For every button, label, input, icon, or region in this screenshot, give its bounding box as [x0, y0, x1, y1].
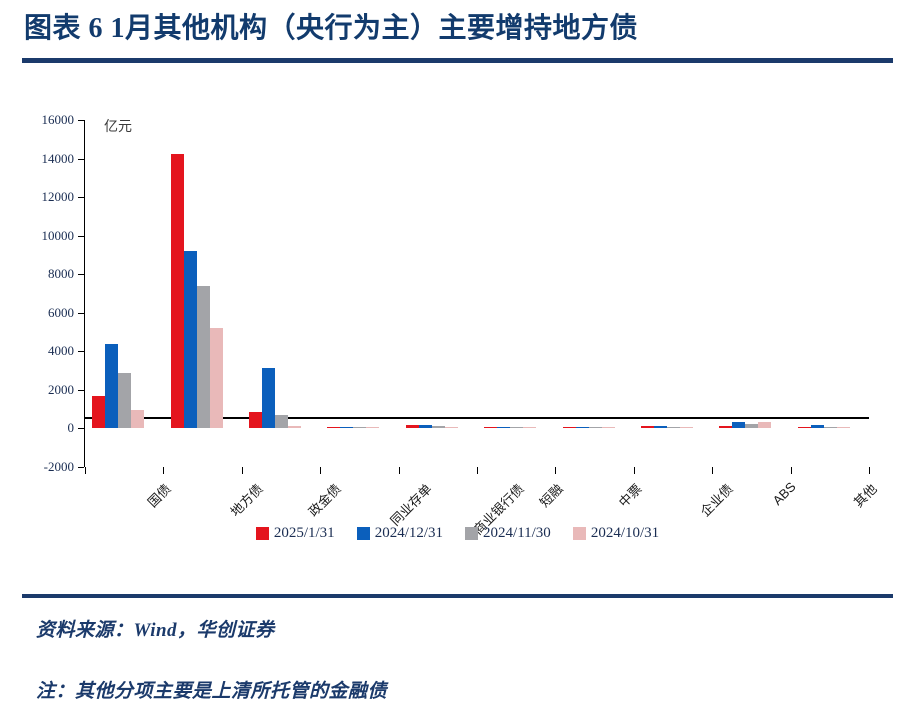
x-tick-mark: [85, 467, 86, 474]
bar: [758, 422, 771, 428]
y-tick-label: 6000: [12, 305, 74, 321]
y-tick-label: 14000: [12, 151, 74, 167]
y-tick-label: 16000: [12, 112, 74, 128]
legend-label: 2024/10/31: [591, 525, 659, 542]
y-tick-mark: [78, 467, 84, 468]
y-tick-label: 2000: [12, 382, 74, 398]
bar: [327, 427, 340, 429]
bar-group: [399, 120, 477, 467]
bar-group: [85, 120, 163, 467]
footer-divider: [22, 594, 893, 598]
y-tick-label: 8000: [12, 266, 74, 282]
bar: [654, 426, 667, 429]
x-tick-mark: [320, 467, 321, 474]
x-axis-label-1: 国债: [143, 479, 175, 511]
bar: [680, 427, 693, 429]
bar: [641, 426, 654, 428]
x-tick-mark: [242, 467, 243, 474]
bar-group: [791, 120, 869, 467]
bar-group: [320, 120, 398, 467]
bar: [837, 427, 850, 429]
x-axis-label-2: 地方债: [225, 479, 266, 520]
x-axis-label-10: 其他: [848, 479, 880, 511]
y-tick-mark: [78, 120, 84, 121]
bar: [92, 396, 105, 428]
y-tick-label: 0: [12, 420, 74, 436]
plot-area: [85, 120, 869, 467]
y-tick-mark: [78, 236, 84, 237]
bar: [484, 427, 497, 429]
legend-item[interactable]: 2025/1/31: [256, 525, 335, 542]
legend-label: 2024/12/31: [375, 525, 443, 542]
x-axis-label-6: 短融: [535, 479, 567, 511]
bar: [406, 425, 419, 428]
legend-item[interactable]: 2024/11/30: [465, 525, 551, 542]
source-note: 资料来源：Wind，华创证券: [36, 615, 275, 642]
legend-swatch-icon: [357, 527, 370, 540]
bar: [432, 426, 445, 428]
y-tick-mark: [78, 197, 84, 198]
chart-legend: 2025/1/312024/12/312024/11/302024/10/31: [0, 525, 915, 542]
x-tick-mark: [163, 467, 164, 474]
x-tick-mark: [399, 467, 400, 474]
x-axis-label-8: 企业债: [695, 479, 736, 520]
legend-label: 2025/1/31: [274, 525, 335, 542]
bar-group: [242, 120, 320, 467]
y-tick-mark: [78, 274, 84, 275]
bar: [719, 426, 732, 428]
bar: [589, 427, 602, 429]
bar: [745, 424, 758, 429]
bar: [667, 427, 680, 429]
bar: [563, 427, 576, 429]
bar: [811, 425, 824, 428]
x-tick-mark: [712, 467, 713, 474]
y-tick-label: 10000: [12, 228, 74, 244]
legend-swatch-icon: [256, 527, 269, 540]
bar: [576, 427, 589, 429]
bar: [510, 427, 523, 429]
bar: [131, 410, 144, 429]
bar: [732, 422, 745, 428]
bar: [210, 328, 223, 429]
explanatory-note: 注：其他分项主要是上清所托管的金融债: [36, 676, 387, 703]
legend-label: 2024/11/30: [483, 525, 551, 542]
x-axis-label-9: ABS: [770, 479, 799, 508]
legend-item[interactable]: 2024/10/31: [573, 525, 659, 542]
bar: [523, 427, 536, 429]
y-tick-label: -2000: [12, 459, 74, 475]
bar: [798, 427, 811, 429]
bar-group: [163, 120, 241, 467]
bar: [197, 286, 210, 428]
y-tick-mark: [78, 159, 84, 160]
legend-swatch-icon: [573, 527, 586, 540]
x-tick-mark: [555, 467, 556, 474]
bar: [262, 368, 275, 429]
bar-group: [634, 120, 712, 467]
bar: [497, 427, 510, 429]
chart-panel: 亿元 1600014000120001000080006000400020000…: [0, 70, 915, 570]
y-tick-label: 4000: [12, 343, 74, 359]
bar: [353, 427, 366, 429]
bar-group: [712, 120, 790, 467]
figure-header: 图表 6 1月其他机构（央行为主）主要增持地方债: [0, 0, 915, 58]
bar: [118, 373, 131, 429]
bar: [419, 425, 432, 428]
bar: [824, 427, 837, 429]
bar-group: [477, 120, 555, 467]
bar: [288, 426, 301, 429]
bar: [340, 427, 353, 429]
y-tick-mark: [78, 313, 84, 314]
legend-swatch-icon: [465, 527, 478, 540]
figure-title: 图表 6 1月其他机构（央行为主）主要增持地方债: [24, 6, 638, 46]
x-tick-mark: [869, 467, 870, 474]
y-tick-mark: [78, 351, 84, 352]
bar: [105, 344, 118, 428]
x-tick-mark: [477, 467, 478, 474]
bar: [171, 154, 184, 428]
y-tick-mark: [78, 428, 84, 429]
y-tick-label: 12000: [12, 189, 74, 205]
bar: [445, 427, 458, 429]
bar-group: [555, 120, 633, 467]
legend-item[interactable]: 2024/12/31: [357, 525, 443, 542]
x-tick-mark: [791, 467, 792, 474]
x-tick-mark: [634, 467, 635, 474]
x-axis-label-4: 同业存单: [386, 479, 436, 529]
y-tick-mark: [78, 390, 84, 391]
x-axis-label-3: 政金债: [303, 479, 344, 520]
bar: [602, 427, 615, 429]
bar: [366, 427, 379, 429]
bar: [275, 415, 288, 428]
plot-frame: 1600014000120001000080006000400020000-20…: [84, 120, 869, 467]
bar: [249, 412, 262, 428]
x-axis-label-7: 中票: [613, 479, 645, 511]
bar: [184, 251, 197, 428]
header-divider: [22, 58, 893, 63]
